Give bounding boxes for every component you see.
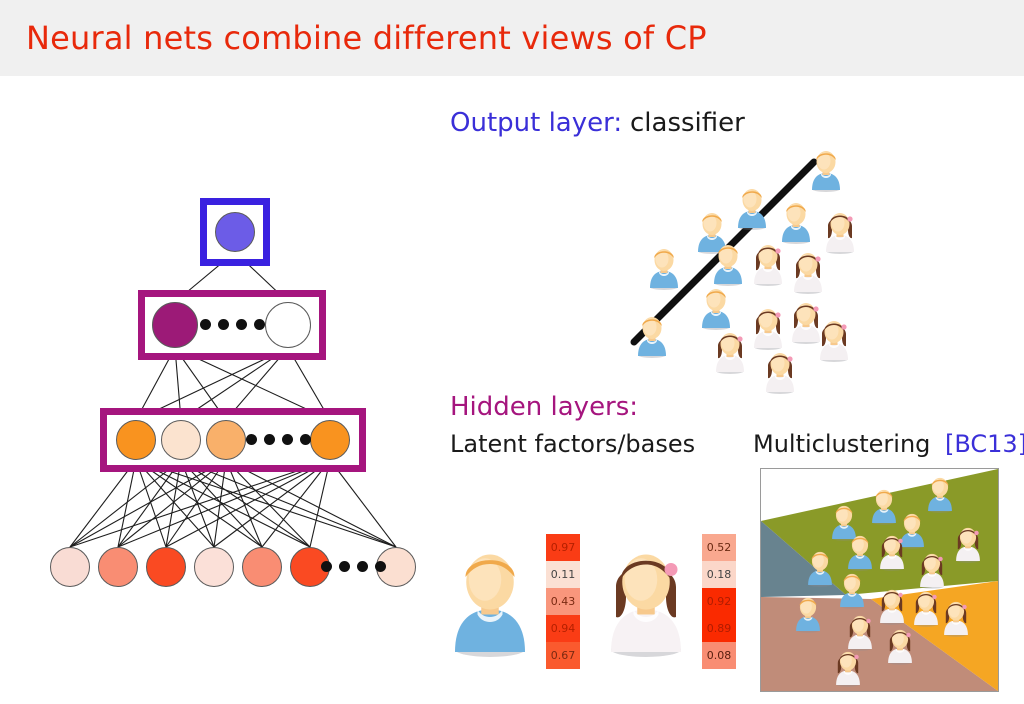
person-icon — [732, 186, 772, 230]
latent-person-b-factor-cell: 0.08 — [702, 642, 736, 669]
person-group-a — [806, 148, 846, 192]
person-icon — [875, 533, 909, 571]
person-icon — [776, 200, 816, 244]
latent-person-a-factor-cell: 0.67 — [546, 642, 580, 669]
person-icon — [696, 286, 736, 330]
hidden2-node-0 — [152, 302, 198, 348]
hidden-layers-label: Hidden layers: — [450, 392, 638, 422]
input-node-4 — [242, 547, 282, 587]
latent-person-b-factor-cell: 0.92 — [702, 588, 736, 615]
hidden1-node-1 — [161, 420, 201, 460]
person-icon — [710, 330, 750, 374]
cluster-person-b — [883, 627, 917, 665]
page-title: Neural nets combine different views of C… — [26, 20, 707, 56]
output-layer-label: Output layer: — [450, 108, 622, 138]
cluster-person-a — [791, 595, 825, 633]
input-node-2 — [146, 547, 186, 587]
person-icon — [923, 475, 957, 513]
input-node-0 — [50, 547, 90, 587]
person-icon — [596, 528, 696, 676]
person-icon — [440, 528, 540, 676]
multiclustering-illustration — [760, 468, 999, 692]
person-group-b — [788, 250, 828, 294]
person-group-b — [814, 318, 854, 362]
latent-person-a-factor-cell: 0.94 — [546, 615, 580, 642]
hidden1-ellipsis — [246, 434, 311, 445]
output-node — [215, 212, 255, 252]
latent-person-a-factor-cell: 0.97 — [546, 534, 580, 561]
person-icon — [875, 587, 909, 625]
input-ellipsis — [321, 561, 386, 572]
person-icon — [939, 599, 973, 637]
person-group-a — [776, 200, 816, 244]
latent-person-b-factor-column: 0.520.180.920.890.08 — [702, 534, 736, 669]
cluster-person-b — [909, 589, 943, 627]
person-group-b — [760, 350, 800, 394]
person-icon — [760, 350, 800, 394]
hidden2-node-1 — [265, 302, 311, 348]
cluster-person-a — [835, 571, 869, 609]
latent-person-b-avatar — [596, 528, 696, 676]
person-icon — [748, 306, 788, 350]
cluster-person-b — [875, 533, 909, 571]
person-group-a — [644, 246, 684, 290]
hidden1-node-0 — [116, 420, 156, 460]
hidden1-node-3 — [310, 420, 350, 460]
latent-person-a-factor-column: 0.970.110.430.940.67 — [546, 534, 580, 669]
classifier-illustration — [610, 138, 840, 368]
input-node-3 — [194, 547, 234, 587]
latent-person-b-factor-cell: 0.18 — [702, 561, 736, 588]
cluster-person-a — [803, 549, 837, 587]
person-group-a — [732, 186, 772, 230]
person-icon — [708, 242, 748, 286]
latent-factors-illustration: 0.970.110.430.940.670.520.180.920.890.08 — [440, 520, 740, 685]
person-icon — [883, 627, 917, 665]
person-icon — [788, 250, 828, 294]
cluster-person-b — [875, 587, 909, 625]
cluster-person-b — [951, 525, 985, 563]
person-icon — [831, 649, 865, 687]
person-icon — [803, 549, 837, 587]
cluster-person-b — [915, 551, 949, 589]
cluster-person-b — [843, 613, 877, 651]
person-icon — [644, 246, 684, 290]
person-icon — [632, 314, 672, 358]
person-icon — [806, 148, 846, 192]
person-icon — [909, 589, 943, 627]
cluster-person-a — [843, 533, 877, 571]
person-icon — [820, 210, 860, 254]
latent-person-a-avatar — [440, 528, 540, 676]
hidden1-node-2 — [206, 420, 246, 460]
latent-person-a-factor-cell: 0.43 — [546, 588, 580, 615]
hidden2-ellipsis — [200, 319, 265, 330]
multiclustering-citation: [BC13] — [945, 430, 1024, 458]
person-icon — [843, 613, 877, 651]
person-icon — [835, 571, 869, 609]
person-group-b — [748, 306, 788, 350]
person-group-b — [710, 330, 750, 374]
cluster-person-a — [923, 475, 957, 513]
cluster-person-b — [831, 649, 865, 687]
person-group-b — [748, 242, 788, 286]
person-group-a — [708, 242, 748, 286]
output-layer-value: classifier — [630, 108, 745, 138]
person-icon — [951, 525, 985, 563]
person-group-a — [696, 286, 736, 330]
latent-person-b-factor-cell: 0.52 — [702, 534, 736, 561]
person-icon — [748, 242, 788, 286]
latent-person-a-factor-cell: 0.11 — [546, 561, 580, 588]
person-icon — [915, 551, 949, 589]
cluster-person-b — [939, 599, 973, 637]
neural-network-diagram — [0, 150, 440, 610]
person-icon — [791, 595, 825, 633]
latent-factors-label: Latent factors/bases — [450, 430, 695, 458]
latent-person-b-factor-cell: 0.89 — [702, 615, 736, 642]
input-node-1 — [98, 547, 138, 587]
person-icon — [814, 318, 854, 362]
multiclustering-label: Multiclustering — [753, 430, 930, 458]
person-icon — [843, 533, 877, 571]
person-group-b — [820, 210, 860, 254]
person-group-a — [632, 314, 672, 358]
